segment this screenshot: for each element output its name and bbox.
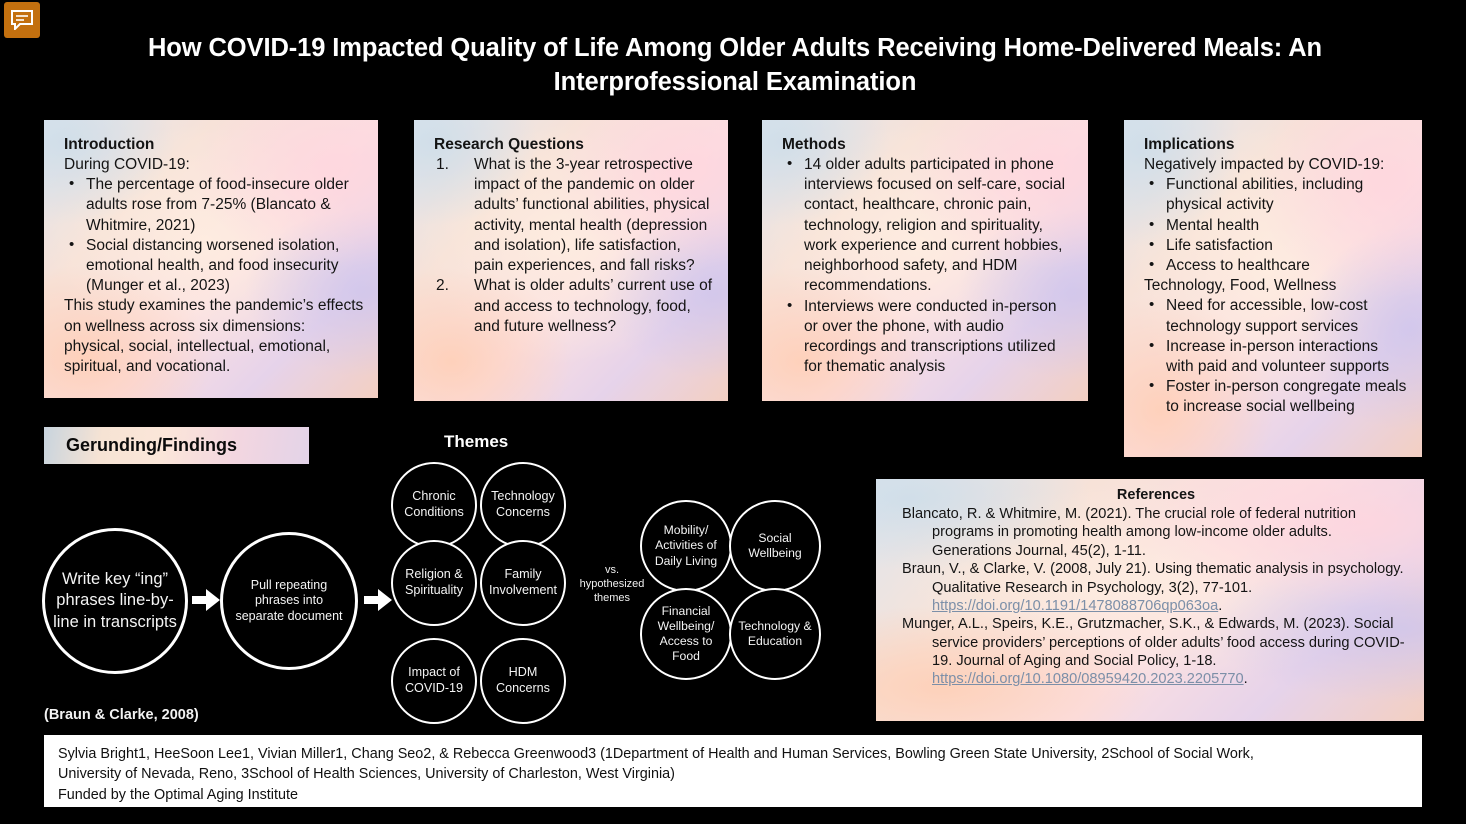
flow-circle-write-phrases: Write key “ing” phrases line-by-line in … xyxy=(42,528,188,674)
gerunding-findings-band: Gerunding/Findings xyxy=(44,427,309,464)
panel-heading-implications: Implications xyxy=(1144,136,1408,154)
hypothesized-circle-label: Financial Wellbeing/ Access to Food xyxy=(642,604,730,665)
author-line: Sylvia Bright1, HeeSoon Lee1, Vivian Mil… xyxy=(58,744,1410,764)
panel-methods: Methods 14 older adults participated in … xyxy=(762,120,1088,401)
page-title: How COVID-19 Impacted Quality of Life Am… xyxy=(60,32,1410,99)
reference-text: Braun, V., & Clarke, V. (2008, July 21).… xyxy=(902,561,1404,595)
reference-text: Munger, A.L., Speirs, K.E., Grutzmacher,… xyxy=(902,616,1405,669)
research-questions-list: What is the 3-year retrospective impact … xyxy=(434,155,714,337)
introduction-bullet-list: The percentage of food-insecure older ad… xyxy=(64,175,364,296)
implications-lead: Negatively impacted by COVID-19: xyxy=(1144,155,1408,175)
theme-circle-label: Impact of COVID-19 xyxy=(393,665,475,696)
comment-bubble-icon[interactable] xyxy=(4,2,40,38)
panel-research-questions: Research Questions What is the 3-year re… xyxy=(414,120,728,401)
reference-tail: . xyxy=(1218,598,1222,614)
implications-bullet-list-b: Need for accessible, low-cost technology… xyxy=(1144,296,1408,417)
theme-circle: Chronic Conditions xyxy=(391,462,477,548)
reference-text: Blancato, R. & Whitmire, M. (2021). The … xyxy=(902,506,1356,559)
list-item: The percentage of food-insecure older ad… xyxy=(64,175,364,236)
gerunding-citation: (Braun & Clarke, 2008) xyxy=(44,707,199,723)
flow-arrow-icon xyxy=(192,589,220,616)
list-item: 14 older adults participated in phone in… xyxy=(782,155,1074,297)
vs-hypothesized-label: vs. hypothesized themes xyxy=(576,563,648,605)
list-item: Access to healthcare xyxy=(1144,256,1408,276)
flow-arrow-icon xyxy=(364,589,392,616)
hypothesized-circle-label: Technology & Education xyxy=(731,619,819,649)
hypothesized-circle-label: Mobility/ Activities of Daily Living xyxy=(642,523,730,568)
theme-circle: Technology Concerns xyxy=(480,462,566,548)
funding-line: Funded by the Optimal Aging Institute xyxy=(58,785,1410,805)
flow-circle-label: Pull repeating phrases into separate doc… xyxy=(223,578,355,625)
theme-circle: Religion & Spirituality xyxy=(391,540,477,626)
affiliation-line: University of Nevada, Reno, 3School of H… xyxy=(58,764,1410,784)
methods-bullet-list: 14 older adults participated in phone in… xyxy=(782,155,1074,377)
list-item: Increase in-person interactions with pai… xyxy=(1144,337,1408,377)
author-affiliation-bar: Sylvia Bright1, HeeSoon Lee1, Vivian Mil… xyxy=(44,735,1422,807)
list-item: What is the 3-year retrospective impact … xyxy=(434,155,714,276)
flow-circle-pull-phrases: Pull repeating phrases into separate doc… xyxy=(220,532,358,670)
panel-heading-references: References xyxy=(902,487,1410,503)
reference-entry: Braun, V., & Clarke, V. (2008, July 21).… xyxy=(902,560,1410,615)
introduction-closing: This study examines the pandemic’s effec… xyxy=(64,296,364,377)
theme-circle-label: Religion & Spirituality xyxy=(393,567,475,598)
list-item: Need for accessible, low-cost technology… xyxy=(1144,296,1408,336)
list-item: What is older adults’ current use of and… xyxy=(434,276,714,337)
list-item: Mental health xyxy=(1144,216,1408,236)
panel-heading-research-questions: Research Questions xyxy=(434,136,714,154)
flow-circle-label: Write key “ing” phrases line-by-line in … xyxy=(45,569,185,633)
panel-implications: Implications Negatively impacted by COVI… xyxy=(1124,120,1422,457)
panel-references: References Blancato, R. & Whitmire, M. (… xyxy=(876,479,1424,721)
panel-introduction: Introduction During COVID-19: The percen… xyxy=(44,120,378,398)
doi-link[interactable]: https://doi.org/10.1080/08959420.2023.22… xyxy=(932,671,1244,687)
reference-entry: Blancato, R. & Whitmire, M. (2021). The … xyxy=(902,505,1410,560)
introduction-lead: During COVID-19: xyxy=(64,155,364,175)
panel-heading-introduction: Introduction xyxy=(64,136,364,154)
hypothesized-theme-circle: Social Wellbeing xyxy=(729,500,821,592)
hypothesized-theme-circle: Technology & Education xyxy=(729,588,821,680)
list-item: Functional abilities, including physical… xyxy=(1144,175,1408,215)
theme-circle-label: Family Involvement xyxy=(482,567,564,598)
doi-link[interactable]: https://doi.org/10.1191/1478088706qp063o… xyxy=(932,598,1218,614)
theme-circle: Impact of COVID-19 xyxy=(391,638,477,724)
hypothesized-circle-label: Social Wellbeing xyxy=(731,531,819,561)
reference-entry: Munger, A.L., Speirs, K.E., Grutzmacher,… xyxy=(902,615,1410,689)
theme-circle-label: Technology Concerns xyxy=(482,489,564,520)
implications-bullet-list-a: Functional abilities, including physical… xyxy=(1144,175,1408,276)
list-item: Life satisfaction xyxy=(1144,236,1408,256)
themes-title: Themes xyxy=(444,432,508,452)
theme-circle: Family Involvement xyxy=(480,540,566,626)
list-item: Foster in-person congregate meals to inc… xyxy=(1144,377,1408,417)
reference-tail: . xyxy=(1244,671,1248,687)
theme-circle-label: Chronic Conditions xyxy=(393,489,475,520)
panel-heading-methods: Methods xyxy=(782,136,1074,154)
theme-circle-label: HDM Concerns xyxy=(482,665,564,696)
hypothesized-theme-circle: Mobility/ Activities of Daily Living xyxy=(640,500,732,592)
list-item: Social distancing worsened isolation, em… xyxy=(64,236,364,297)
poster-canvas: How COVID-19 Impacted Quality of Life Am… xyxy=(0,0,1466,824)
gerunding-findings-label: Gerunding/Findings xyxy=(44,435,237,456)
theme-circle: HDM Concerns xyxy=(480,638,566,724)
implications-subheading: Technology, Food, Wellness xyxy=(1144,276,1408,296)
list-item: Interviews were conducted in-person or o… xyxy=(782,297,1074,378)
hypothesized-theme-circle: Financial Wellbeing/ Access to Food xyxy=(640,588,732,680)
